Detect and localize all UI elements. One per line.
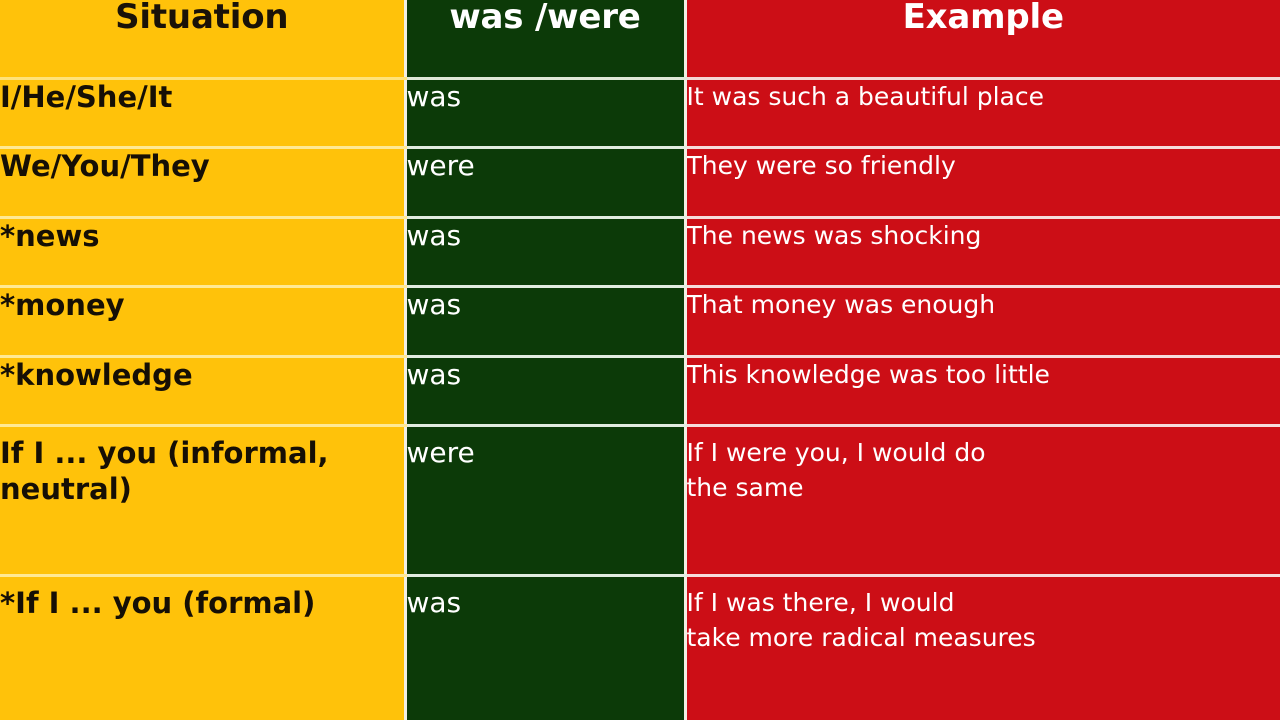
column-header-example: Example: [685, 0, 1280, 78]
table-row: We/You/They were They were so friendly: [0, 148, 1280, 218]
example-line: If I were you, I would do: [687, 436, 1280, 471]
cell-situation: If I ... you (informal, neutral): [0, 426, 405, 576]
cell-example: They were so friendly: [685, 148, 1280, 218]
cell-example: That money was enough: [685, 287, 1280, 357]
cell-example: The news was shocking: [685, 217, 1280, 287]
table-row: If I ... you (informal, neutral) were If…: [0, 426, 1280, 576]
example-line: If I was there, I would: [687, 586, 1280, 621]
cell-was-were: was: [405, 356, 685, 426]
cell-was-were: was: [405, 287, 685, 357]
cell-situation: *money: [0, 287, 405, 357]
cell-was-were: was: [405, 78, 685, 148]
table-row: *If I ... you (formal) was If I was ther…: [0, 576, 1280, 720]
table-row: *money was That money was enough: [0, 287, 1280, 357]
example-line: That money was enough: [687, 288, 1280, 323]
cell-situation: I/He/She/It: [0, 78, 405, 148]
example-line: This knowledge was too little: [687, 358, 1280, 393]
cell-example: It was such a beautiful place: [685, 78, 1280, 148]
cell-situation: *If I ... you (formal): [0, 576, 405, 720]
example-line: It was such a beautiful place: [687, 80, 1280, 115]
cell-was-were: was: [405, 217, 685, 287]
example-line: the same: [687, 471, 1280, 506]
cell-example: This knowledge was too little: [685, 356, 1280, 426]
cell-was-were: were: [405, 148, 685, 218]
example-line: take more radical measures: [687, 621, 1280, 656]
column-header-was-were: was /were: [405, 0, 685, 78]
table-row: *news was The news was shocking: [0, 217, 1280, 287]
cell-was-were: were: [405, 426, 685, 576]
cell-situation: *news: [0, 217, 405, 287]
table-row: I/He/She/It was It was such a beautiful …: [0, 78, 1280, 148]
cell-example: If I were you, I would do the same: [685, 426, 1280, 576]
column-header-situation: Situation: [0, 0, 405, 78]
cell-example: If I was there, I would take more radica…: [685, 576, 1280, 720]
table-row: *knowledge was This knowledge was too li…: [0, 356, 1280, 426]
example-line: The news was shocking: [687, 219, 1280, 254]
table-body: I/He/She/It was It was such a beautiful …: [0, 78, 1280, 720]
cell-was-were: was: [405, 576, 685, 720]
was-were-grammar-table: Situation was /were Example I/He/She/It …: [0, 0, 1280, 720]
cell-situation: We/You/They: [0, 148, 405, 218]
table-header-row: Situation was /were Example: [0, 0, 1280, 78]
cell-situation: *knowledge: [0, 356, 405, 426]
example-line: They were so friendly: [687, 149, 1280, 184]
